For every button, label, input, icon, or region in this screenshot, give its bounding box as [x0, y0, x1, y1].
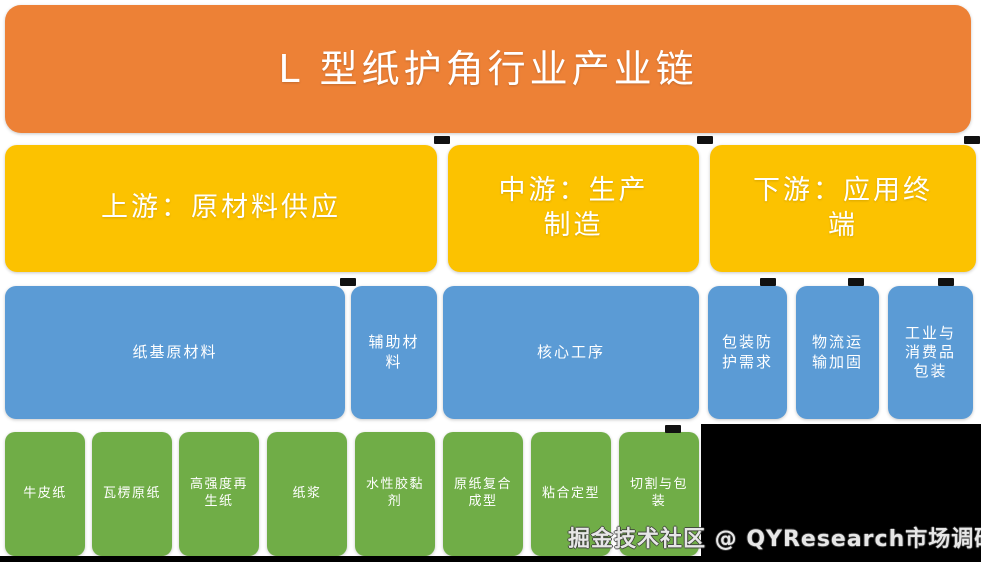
selection-handle-artifact	[434, 136, 450, 144]
leaf-box-bonding-setting[interactable]: 粘合定型	[531, 432, 611, 556]
leaf-box-water-based-adhesive[interactable]: 水性胶黏 剂	[355, 432, 435, 556]
leaf-box-base-paper-laminating[interactable]: 原纸复合 成型	[443, 432, 523, 556]
selection-handle-artifact	[964, 136, 980, 144]
leaf-box-corrugated-base-paper[interactable]: 瓦楞原纸	[92, 432, 172, 556]
selection-handle-artifact	[665, 425, 681, 433]
segment-box-packaging-protection[interactable]: 包装防 护需求	[708, 286, 787, 419]
diagram-canvas: L 型纸护角行业产业链 上游：原材料供应 中游：生产 制造 下游：应用终 端 纸…	[0, 0, 981, 562]
tier-box-midstream[interactable]: 中游：生产 制造	[448, 145, 699, 272]
segment-box-logistics-reinforcement[interactable]: 物流运 输加固	[796, 286, 879, 419]
chain-title-box: L 型纸护角行业产业链	[5, 5, 971, 133]
background-filler-bottom	[0, 556, 981, 562]
segment-box-industrial-consumer-packaging[interactable]: 工业与 消费品 包装	[888, 286, 973, 419]
selection-handle-artifact	[848, 278, 864, 286]
selection-handle-artifact	[340, 278, 356, 286]
background-filler-right	[701, 424, 981, 562]
selection-handle-artifact	[697, 136, 713, 144]
leaf-box-pulp[interactable]: 纸浆	[267, 432, 347, 556]
selection-handle-artifact	[760, 278, 776, 286]
segment-box-paper-raw-material[interactable]: 纸基原材料	[5, 286, 345, 419]
segment-box-auxiliary-material[interactable]: 辅助材 料	[351, 286, 437, 419]
tier-box-upstream[interactable]: 上游：原材料供应	[5, 145, 437, 272]
leaf-box-high-strength-recycled-paper[interactable]: 高强度再 生纸	[179, 432, 259, 556]
tier-box-downstream[interactable]: 下游：应用终 端	[710, 145, 976, 272]
selection-handle-artifact	[938, 278, 954, 286]
leaf-box-kraft-paper[interactable]: 牛皮纸	[5, 432, 85, 556]
leaf-box-cutting-packaging[interactable]: 切割与包 装	[619, 432, 699, 556]
segment-box-core-process[interactable]: 核心工序	[443, 286, 699, 419]
